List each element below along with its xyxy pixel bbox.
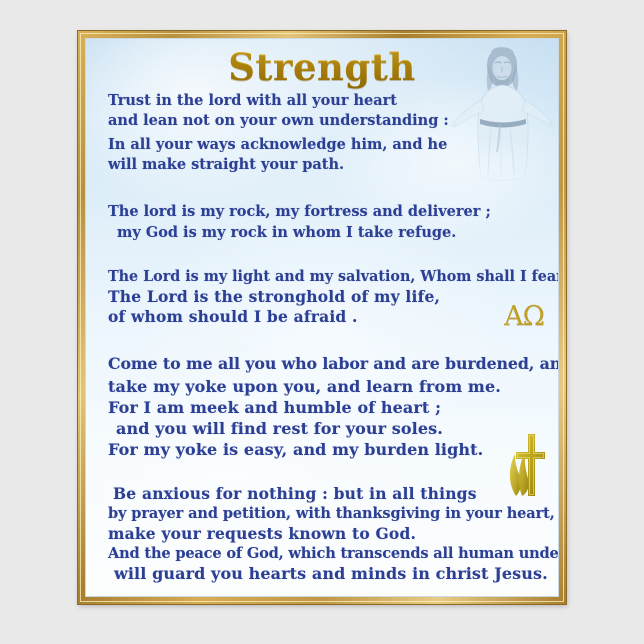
verse-line: Trust in the lord with all your heart	[108, 91, 542, 111]
verse-line: The lord is my rock, my fortress and del…	[108, 201, 542, 222]
stanza-psalm-18: The lord is my rock, my fortress and del…	[108, 201, 542, 243]
stanza-psalm-27: The Lord is my light and my salvation, W…	[108, 267, 542, 327]
stanza-philippians: Be anxious for nothing : but in all thin…	[108, 484, 542, 584]
verse-line: The Lord is my light and my salvation, W…	[108, 267, 533, 287]
verse-line: take my yoke upon you, and learn from me…	[108, 376, 542, 397]
alpha-omega-icon: ΑΩ	[504, 301, 544, 332]
poster-stage: Strength Trust in the lord with all your…	[0, 0, 644, 644]
verse-line: The Lord is the stronghold of my life,	[108, 287, 542, 307]
verse-line: Come to me all you who labor and are bur…	[108, 353, 551, 374]
verses-container: Trust in the lord with all your heart an…	[108, 91, 542, 584]
verse-line: And the peace of God, which transcends a…	[108, 544, 542, 564]
verse-line: and you will find rest for your soles.	[108, 418, 542, 439]
verse-line: make your requests known to God.	[108, 524, 542, 544]
verse-line: will make straight your path.	[108, 155, 542, 175]
verse-line: Be anxious for nothing : but in all thin…	[108, 484, 542, 504]
verse-line: For my yoke is easy, and my burden light…	[108, 439, 542, 460]
page-title: Strength	[86, 45, 558, 89]
verse-line: by prayer and petition, with thanksgivin…	[108, 504, 542, 524]
verse-line: will guard you hearts and minds in chris…	[108, 564, 542, 584]
stanza-matthew: Come to me all you who labor and are bur…	[108, 353, 542, 460]
verse-line: and lean not on your own understanding :	[108, 111, 542, 131]
verse-line: In all your ways acknowledge him, and he	[108, 135, 542, 155]
verse-line: my God is my rock in whom I take refuge.	[108, 222, 542, 243]
stanza-proverbs: Trust in the lord with all your heart an…	[108, 91, 542, 175]
verse-line: of whom should I be afraid .	[108, 307, 542, 327]
verse-line: For I am meek and humble of heart ;	[108, 397, 542, 418]
cross-and-flame-icon	[502, 432, 546, 498]
poster-gold-frame: Strength Trust in the lord with all your…	[78, 31, 566, 604]
poster-canvas: Strength Trust in the lord with all your…	[85, 38, 559, 597]
